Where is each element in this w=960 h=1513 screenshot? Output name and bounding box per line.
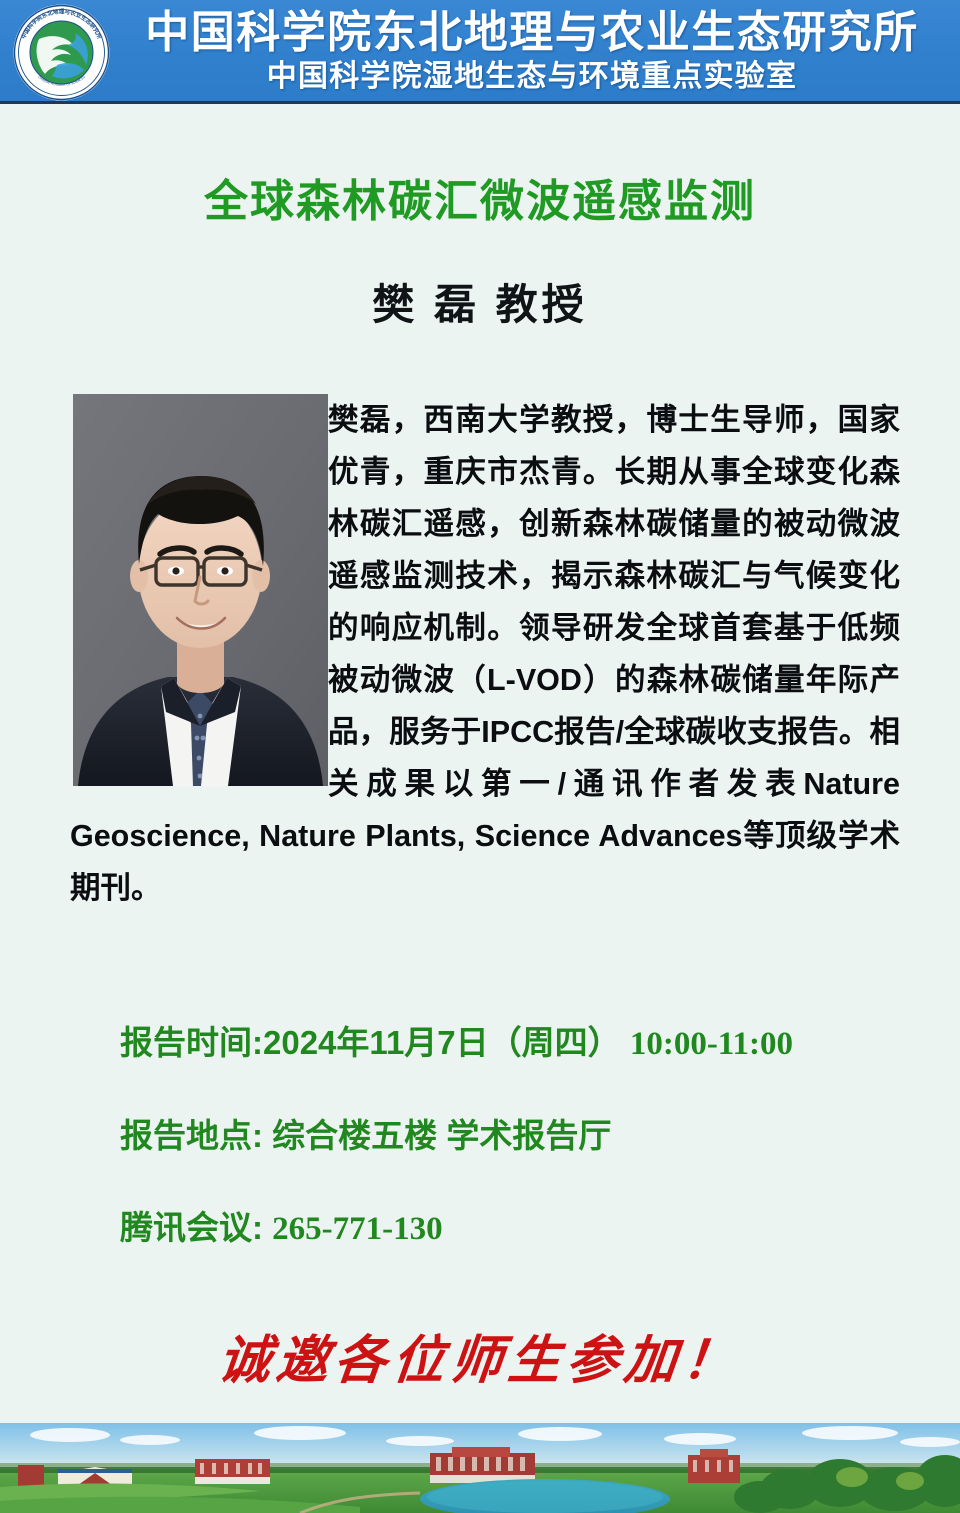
cas-neigae-logo-icon: 中国科学院东北地理与农业生态研究所 CHINESE ACADEMY OF SCI… [12, 3, 111, 102]
detail-row-meeting: 腾讯会议: 265-771-130 [120, 1207, 920, 1250]
place-label: 报告地点: [120, 1117, 263, 1154]
invitation-text: 诚邀各位师生参加！ [0, 1318, 960, 1393]
speaker-portrait-photo [73, 394, 328, 786]
portrait-illustration [73, 394, 328, 786]
talk-title: 全球森林碳汇微波遥感监测 [0, 178, 960, 226]
detail-row-place: 报告地点: 综合楼五楼 学术报告厅 [120, 1115, 920, 1156]
place-value: 综合楼五楼 学术报告厅 [272, 1117, 611, 1154]
meeting-label: 腾讯会议: [120, 1209, 263, 1246]
speaker-name: 樊 磊 教授 [0, 282, 960, 328]
detail-row-time: 报告时间:2024年11月7日（周四） 10:00-11:00 [120, 1022, 920, 1065]
campus-panorama-illustration [0, 1423, 960, 1513]
meeting-id: 265-771-130 [272, 1211, 442, 1247]
campus-panorama-photo [0, 1423, 960, 1513]
header-text-block: 中国科学院东北地理与农业生态研究所 中国科学院湿地生态与环境重点实验室 [112, 0, 952, 104]
institute-name: 中国科学院东北地理与农业生态研究所 [145, 9, 919, 57]
laboratory-name: 中国科学院湿地生态与环境重点实验室 [267, 59, 797, 95]
event-details: 报告时间:2024年11月7日（周四） 10:00-11:00 报告地点: 综合… [120, 1022, 920, 1300]
time-range: 10:00-11:00 [630, 1026, 793, 1062]
time-label: 报告时间: [120, 1024, 263, 1061]
institute-logo: 中国科学院东北地理与农业生态研究所 CHINESE ACADEMY OF SCI… [12, 3, 111, 102]
header-banner: 中国科学院东北地理与农业生态研究所 CHINESE ACADEMY OF SCI… [0, 0, 960, 104]
time-value: 2024年11月7日（周四） [263, 1024, 621, 1061]
